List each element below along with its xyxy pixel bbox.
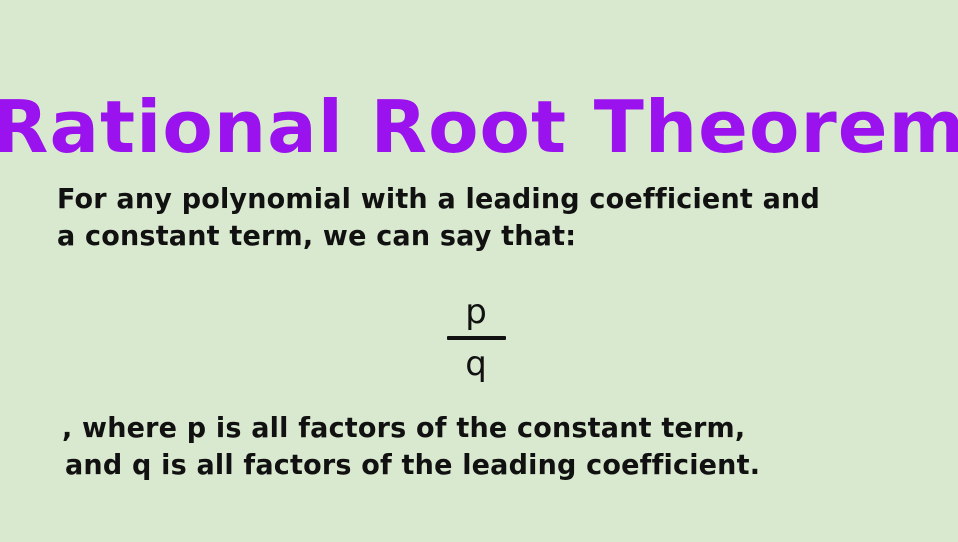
conclusion-line-1: , where p is all factors of the constant… (62, 409, 760, 446)
intro-paragraph: For any polynomial with a leading coeffi… (57, 180, 848, 254)
intro-line-2: a constant term, we can say that: (57, 217, 820, 254)
page-title: Rational Root Theorem (0, 88, 958, 166)
intro-line-1: For any polynomial with a leading coeffi… (57, 180, 820, 217)
fraction-bar (447, 336, 506, 340)
fraction-denominator: q (446, 342, 506, 386)
fraction-numerator: p (446, 290, 506, 334)
conclusion-line-2: and q is all factors of the leading coef… (65, 446, 760, 483)
slide-canvas: Rational Root Theorem For any polynomial… (0, 0, 958, 542)
conclusion-paragraph: , where p is all factors of the constant… (62, 409, 785, 483)
fraction-p-over-q: p q (446, 290, 506, 386)
